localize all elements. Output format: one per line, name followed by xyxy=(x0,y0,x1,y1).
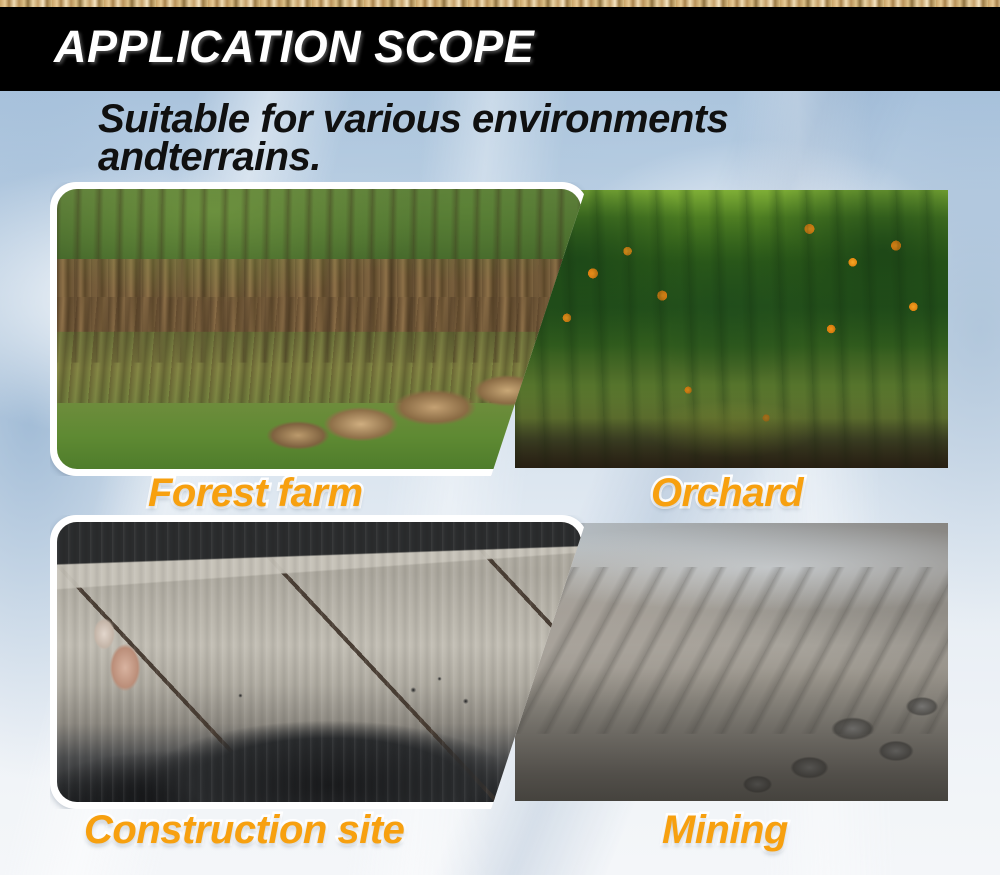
caption-forest-farm: Forest farm xyxy=(148,473,363,513)
page-title: APPLICATION SCOPE xyxy=(54,24,534,69)
subtitle-line-2: andterrains. xyxy=(98,138,978,176)
top-texture-strip xyxy=(0,0,1000,7)
photo-construction-site xyxy=(50,515,588,809)
subtitle: Suitable for various environments andter… xyxy=(98,100,978,176)
caption-construction-site: Construction site xyxy=(84,810,404,850)
photo-forest-farm xyxy=(50,182,588,476)
photo-orchard xyxy=(515,190,948,468)
gallery-row-1 xyxy=(0,190,1000,468)
gallery-row-2 xyxy=(0,523,1000,801)
caption-orchard: Orchard xyxy=(651,473,803,513)
construction-site-image-clip xyxy=(57,522,581,802)
application-scope-banner: APPLICATION SCOPE Suitable for various e… xyxy=(0,0,1000,875)
forest-farm-image xyxy=(57,189,581,469)
forest-farm-image-clip xyxy=(57,189,581,469)
construction-site-image xyxy=(57,522,581,802)
orchard-image xyxy=(515,190,948,468)
photo-mining xyxy=(515,523,948,801)
mining-image xyxy=(515,523,948,801)
caption-mining: Mining xyxy=(662,810,788,850)
